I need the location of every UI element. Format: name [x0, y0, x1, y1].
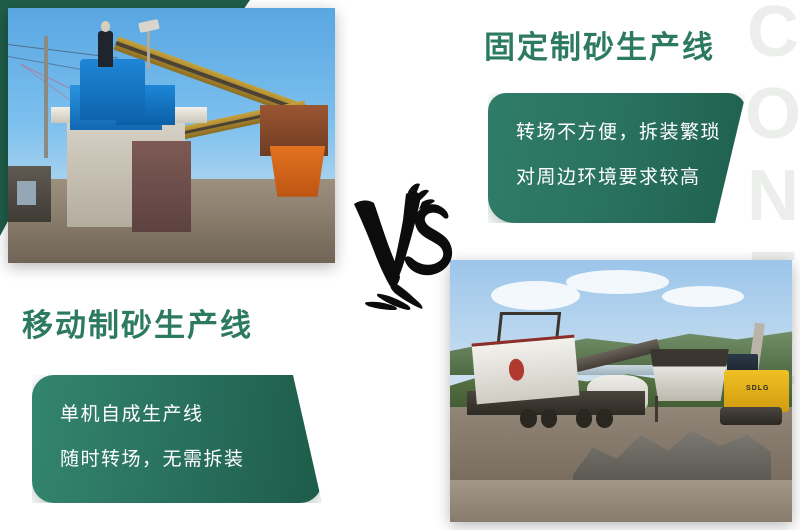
surge-bin — [648, 349, 730, 401]
light-pole — [147, 28, 150, 69]
callout-mobile: 单机自成生产线 随时转场，无需拆装 — [32, 375, 322, 503]
worker-figure — [98, 31, 113, 67]
callout-line: 单机自成生产线 — [60, 405, 322, 424]
callout-stationary: 转场不方便，拆装繁琐 对周边环境要求较高 — [488, 93, 746, 223]
excavator-track — [720, 407, 782, 425]
cloud — [566, 270, 669, 294]
haul-road — [450, 480, 792, 522]
callout-line: 转场不方便，拆装繁琐 — [516, 123, 746, 142]
title-mobile-line: 移动制砂生产线 — [22, 300, 253, 345]
callout-line: 对周边环境要求较高 — [516, 168, 746, 187]
vsi-crusher-top — [80, 59, 145, 120]
surge-hopper — [270, 146, 326, 197]
utility-pole — [44, 36, 48, 158]
trailer-wheels — [518, 409, 621, 427]
callout-line: 随时转场，无需拆装 — [60, 450, 322, 469]
concrete-pier — [132, 141, 191, 233]
excavator-brand-label: SDLG — [737, 381, 778, 397]
cloud — [491, 281, 580, 310]
vibrating-screen — [471, 334, 578, 403]
support-legs — [655, 396, 729, 422]
photo-mobile-plant: SDLG — [450, 260, 792, 522]
comparison-banner: CONTE — [0, 0, 800, 530]
title-stationary-line: 固定制砂生产线 — [484, 22, 715, 67]
photo-stationary-plant — [8, 8, 335, 263]
versus-mark — [350, 182, 458, 310]
site-building — [8, 166, 51, 222]
